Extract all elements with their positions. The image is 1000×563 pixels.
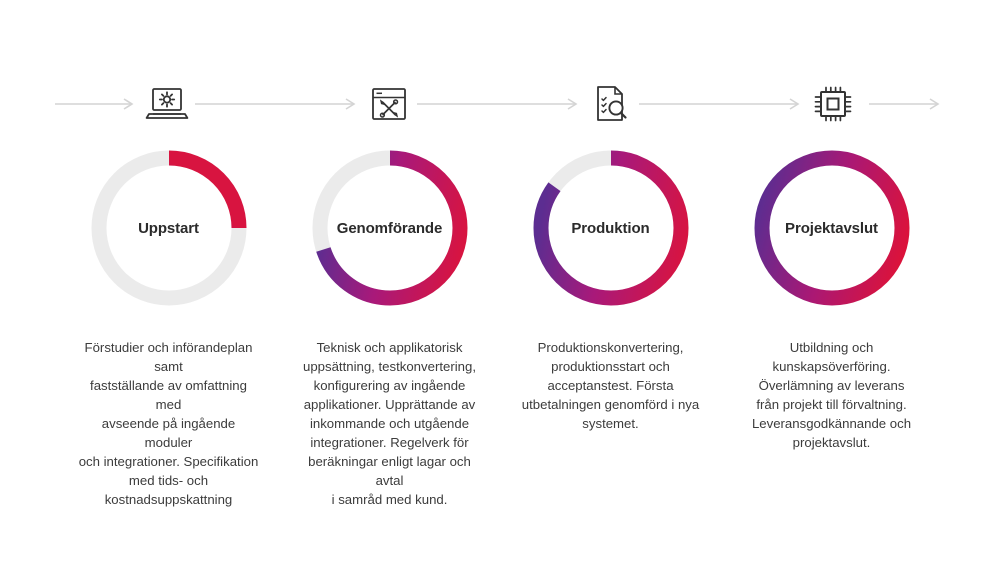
microchip-icon — [805, 78, 861, 130]
donut-svg-uppstart — [81, 140, 257, 316]
stage-projektavslut[interactable]: Projektavslut Utbildning och kunskapsöve… — [740, 140, 923, 452]
donut-svg-projektavslut — [744, 140, 920, 316]
donut-chart-uppstart[interactable]: Uppstart — [81, 140, 257, 316]
stage-caption-produktion: Produktionskonvertering, produktionsstar… — [519, 338, 702, 433]
donut-chart-genomforande[interactable]: Genomförande — [302, 140, 478, 316]
donut-svg-produktion — [523, 140, 699, 316]
arrow-2-to-3-icon — [417, 98, 583, 110]
process-diagram: Uppstart Förstudier och införandeplan sa… — [0, 0, 1000, 563]
stage-caption-genomforande: Teknisk och applikatorisk uppsättning, t… — [298, 338, 481, 509]
browser-tools-icon — [361, 78, 417, 130]
icon-arrow-rail — [0, 78, 1000, 130]
stage-caption-projektavslut: Utbildning och kunskapsöverföring. Överl… — [740, 338, 923, 452]
document-search-icon — [583, 78, 639, 130]
arrow-lead-in-icon — [55, 98, 139, 110]
stage-genomforande[interactable]: Genomförande Teknisk och applikatorisk u… — [298, 140, 481, 509]
donut-chart-projektavslut[interactable]: Projektavslut — [744, 140, 920, 316]
arrow-lead-out-icon — [861, 98, 945, 110]
arrow-3-to-4-icon — [639, 98, 805, 110]
stage-produktion[interactable]: Produktion Produktionskonvertering, prod… — [519, 140, 702, 433]
stage-uppstart[interactable]: Uppstart Förstudier och införandeplan sa… — [77, 140, 260, 509]
stage-caption-uppstart: Förstudier och införandeplan samt fastst… — [77, 338, 260, 509]
laptop-gear-icon — [139, 78, 195, 130]
donut-chart-produktion[interactable]: Produktion — [523, 140, 699, 316]
stage-list: Uppstart Förstudier och införandeplan sa… — [0, 140, 1000, 509]
arrow-1-to-2-icon — [195, 98, 361, 110]
donut-svg-genomforande — [302, 140, 478, 316]
